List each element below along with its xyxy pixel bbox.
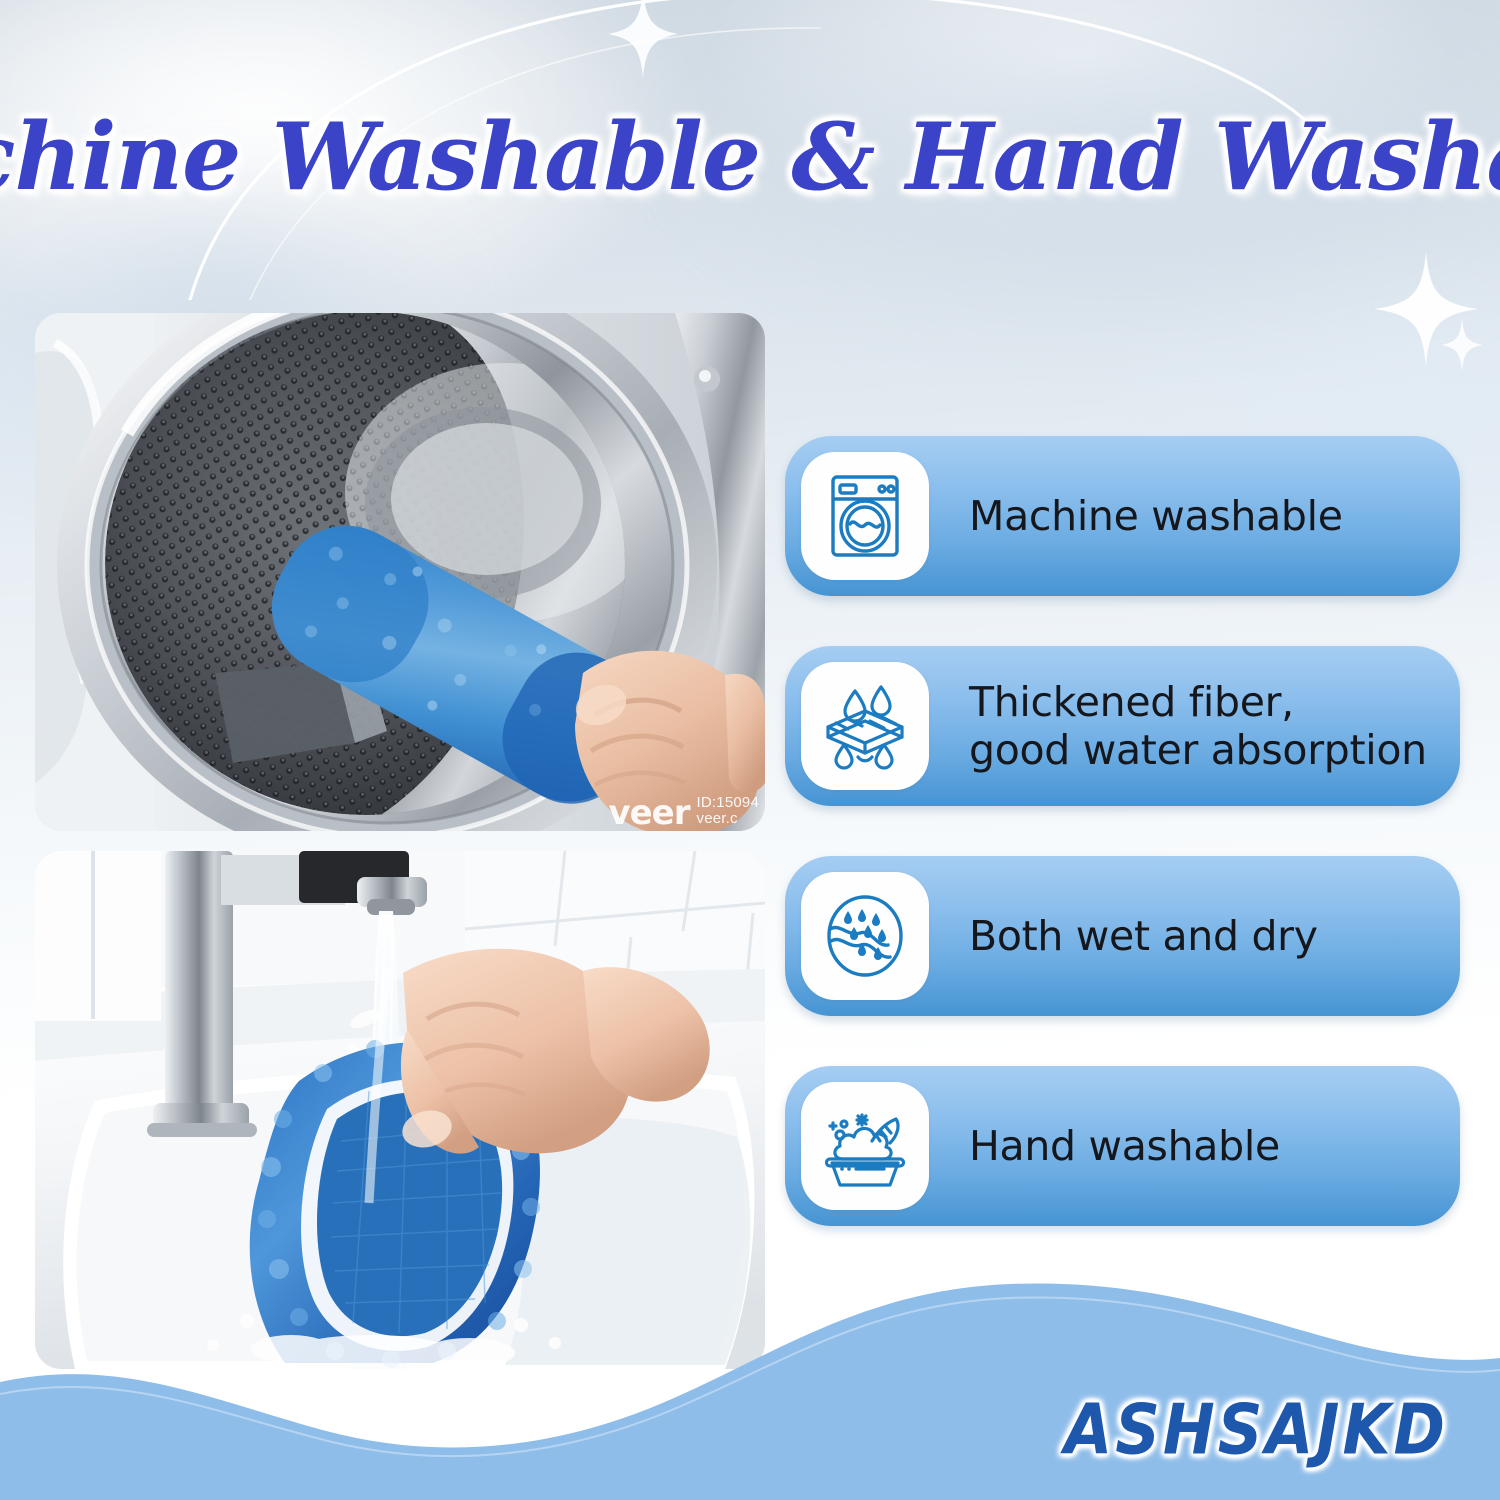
feature-card-wet-and-dry[interactable]: Both wet and dry [785,856,1460,1016]
absorbent-layers-icon [818,679,912,773]
feature-card-list: Machine washable Thickened fiber, good w… [785,436,1460,1226]
veer-site-text: veer.c [697,811,759,827]
feature-label: Hand washable [969,1122,1280,1170]
brand-logo: ASHSAJKD [1064,1389,1448,1471]
icon-tile [801,452,929,580]
infographic-canvas: Machine Washable & Hand Washable [0,0,1500,1500]
headline-container: Machine Washable & Hand Washable [0,96,1500,216]
hand-wash-basin-icon [818,1099,912,1193]
icon-tile [801,1082,929,1210]
veer-id-text: ID:15094 [697,795,759,811]
icon-tile [801,872,929,1000]
feature-label: Both wet and dry [969,912,1318,960]
veer-watermark: veer ID:15094 veer.c [608,795,759,829]
feature-card-machine-washable[interactable]: Machine washable [785,436,1460,596]
wet-dry-icon [818,889,912,983]
feature-label: Machine washable [969,492,1343,540]
washing-machine-icon [818,469,912,563]
washing-machine-photo: veer ID:15094 veer.c [35,313,765,831]
feature-card-hand-washable[interactable]: Hand washable [785,1066,1460,1226]
feature-card-thickened-fiber[interactable]: Thickened fiber, good water absorption [785,646,1460,806]
feature-label: Thickened fiber, good water absorption [969,678,1427,775]
veer-logo-text: veer [608,798,689,829]
icon-tile [801,662,929,790]
page-title: Machine Washable & Hand Washable [0,110,1500,203]
